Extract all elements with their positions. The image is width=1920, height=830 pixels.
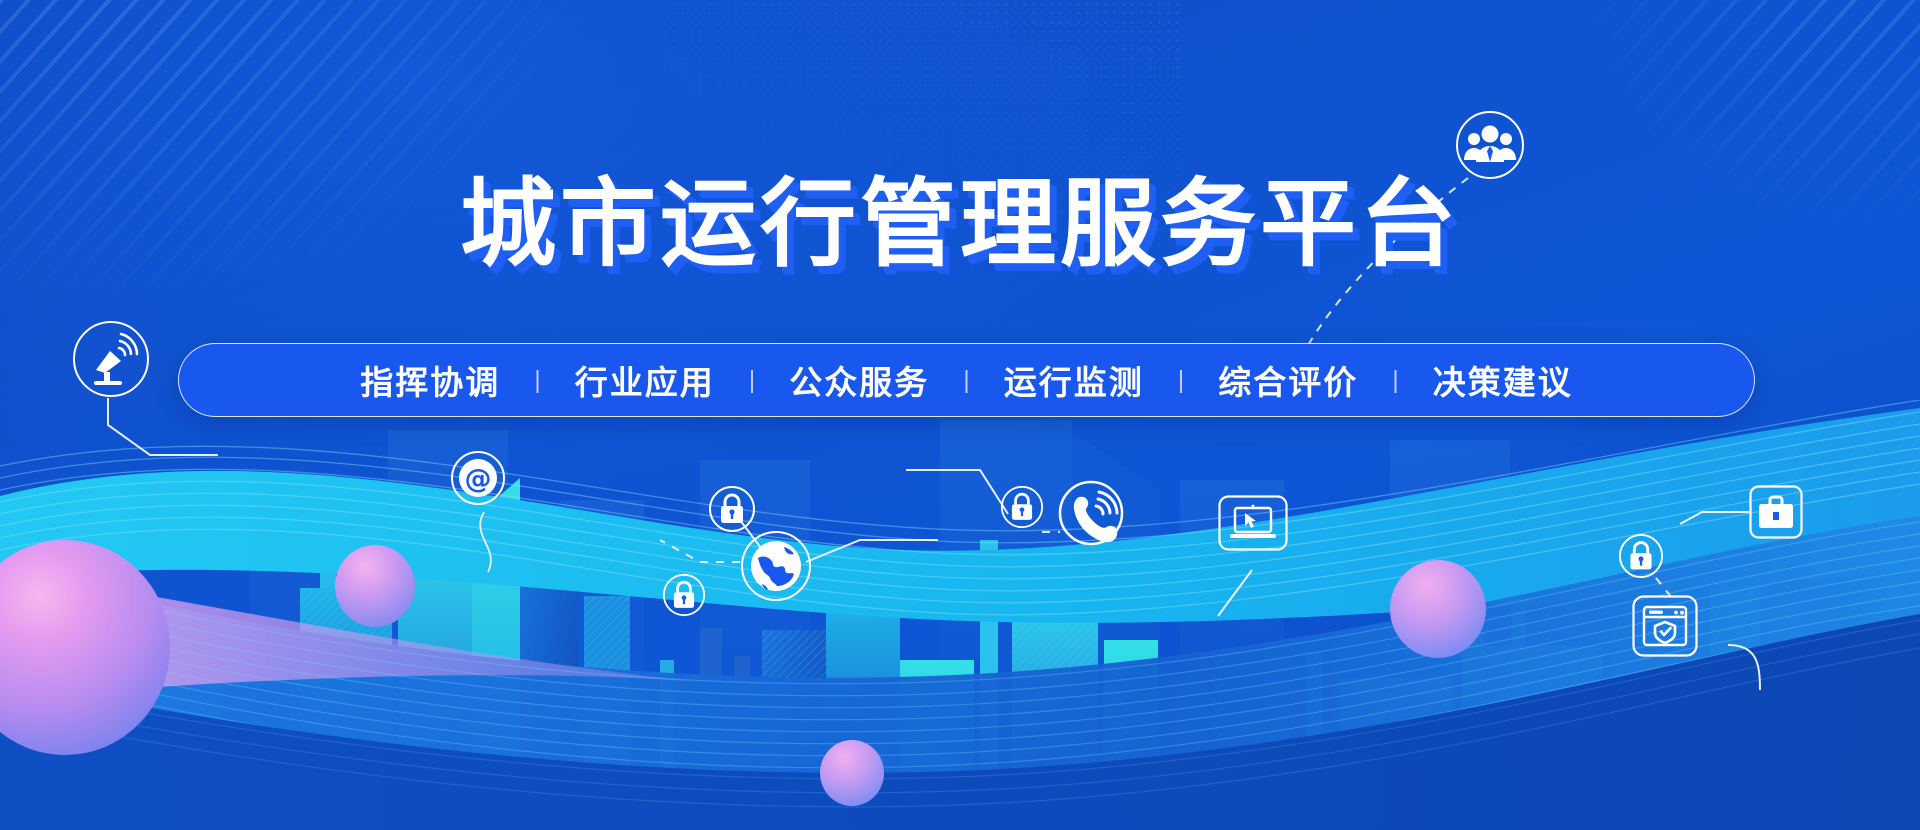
lock-icon[interactable] [662,573,706,617]
briefcase-icon[interactable] [1749,485,1803,539]
nav-item-6[interactable]: 决策建议 [1399,356,1607,404]
browser-shield-icon[interactable] [1632,595,1698,657]
user-group-icon[interactable] [1455,110,1525,180]
nav-item-1[interactable]: 指挥协调 [326,356,534,404]
lock-icon[interactable] [708,485,756,533]
decorative-sphere [820,740,884,806]
decorative-sphere [1390,560,1486,658]
lock-icon[interactable] [1000,485,1044,529]
nav-item-3[interactable]: 公众服务 [755,356,963,404]
laptop-cursor-icon[interactable] [1218,495,1288,551]
svg-text:@: @ [465,464,492,495]
main-nav-bar: 指挥协调|行业应用|公众服务|运行监测|综合评价|决策建议 [178,343,1755,417]
globe-icon[interactable] [740,530,812,602]
nav-item-2[interactable]: 行业应用 [541,356,749,404]
phone-signal-icon[interactable] [1058,480,1124,546]
page-title: 城市运行管理服务平台 [0,175,1920,276]
nav-item-5[interactable]: 综合评价 [1184,356,1392,404]
city-platform-banner: @ [0,0,1920,830]
at-sign-icon[interactable]: @ [450,450,506,506]
nav-item-4[interactable]: 运行监测 [970,356,1178,404]
lock-icon[interactable] [1618,533,1664,579]
decorative-sphere [335,545,415,627]
satellite-dish-icon[interactable] [72,320,150,398]
